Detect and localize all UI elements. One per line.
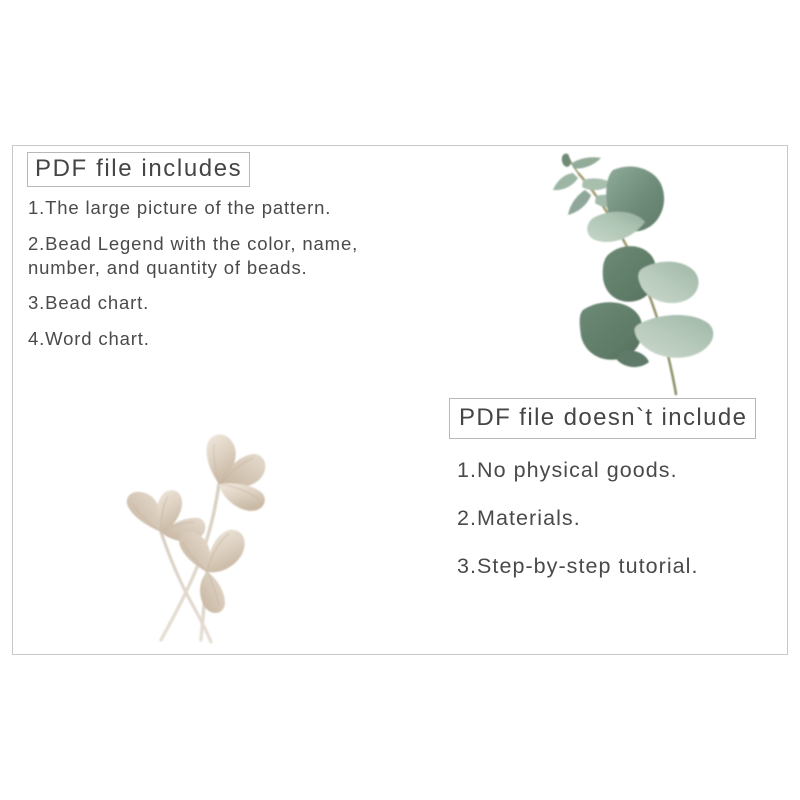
- list-item: 2.Materials.: [457, 505, 756, 533]
- pdf-excludes-list: 1.No physical goods. 2.Materials. 3.Step…: [449, 457, 756, 581]
- eucalyptus-tip-bud: [562, 154, 571, 167]
- list-item: 1.No physical goods.: [457, 457, 756, 485]
- flower-petal: [219, 483, 265, 511]
- eucalyptus-small-leaf: [568, 190, 591, 215]
- pdf-excludes-section: PDF file doesn`t include 1.No physical g…: [449, 398, 756, 581]
- flowers-group: [127, 434, 266, 642]
- flowers-svg: [95, 426, 325, 656]
- list-item: 1.The large picture of the pattern.: [28, 196, 418, 220]
- list-item: 4.Word chart.: [28, 327, 418, 351]
- list-item: 3.Step-by-step tutorial.: [457, 553, 756, 581]
- pdf-includes-list: 1.The large picture of the pattern. 2.Be…: [27, 196, 418, 350]
- beige-flowers-illustration: [95, 426, 325, 656]
- eucalyptus-svg: [549, 146, 749, 406]
- pdf-info-card-page: PDF file includes 1.The large picture of…: [0, 0, 800, 800]
- eucalyptus-sprig-illustration: [549, 146, 749, 406]
- eucalyptus-small-leaf: [572, 157, 601, 168]
- list-item: 2.Bead Legend with the color, name, numb…: [28, 232, 418, 279]
- info-card: PDF file includes 1.The large picture of…: [12, 145, 788, 655]
- eucalyptus-curved-leaf: [635, 315, 714, 358]
- flower-petal: [179, 532, 210, 572]
- eucalyptus-accent-leaf: [617, 350, 649, 367]
- eucalyptus-pale-leaf: [587, 212, 645, 242]
- list-item: 3.Bead chart.: [28, 291, 418, 315]
- eucalyptus-leaves-group: [553, 154, 713, 394]
- eucalyptus-small-leaf: [553, 173, 578, 190]
- pdf-includes-title: PDF file includes: [27, 152, 250, 187]
- pdf-includes-section: PDF file includes 1.The large picture of…: [27, 152, 418, 351]
- flower-petal: [127, 492, 162, 532]
- eucalyptus-curved-leaf: [638, 262, 698, 303]
